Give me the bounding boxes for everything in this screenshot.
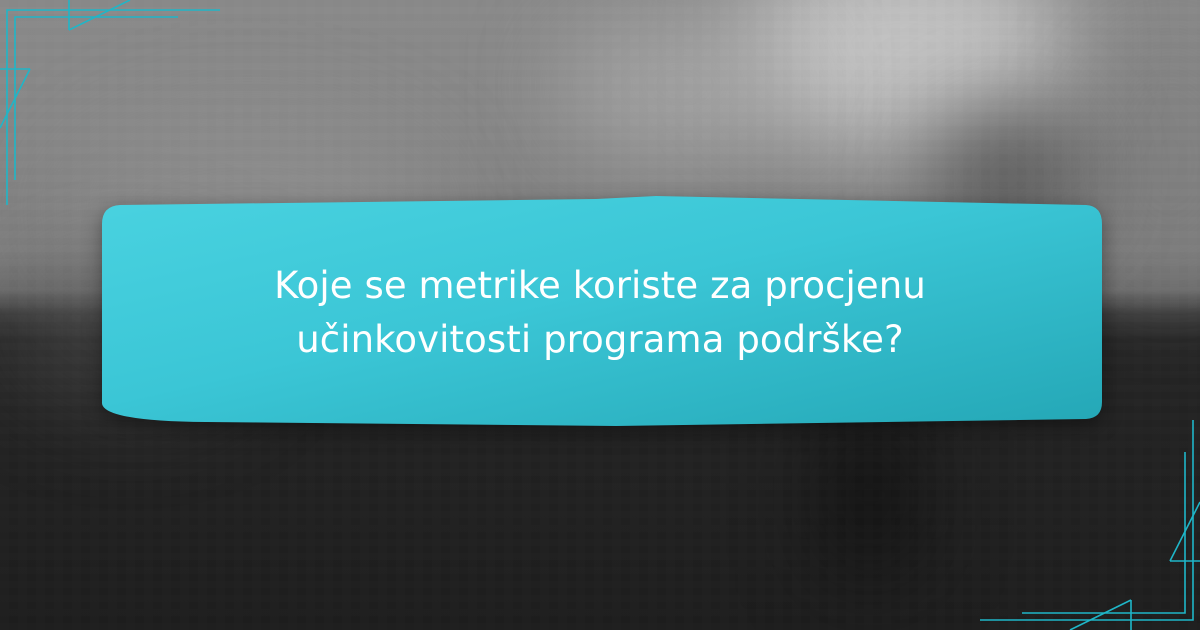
screenshot-canvas: Koje se metrike koriste za procjenu učin… [0, 0, 1200, 630]
question-line-1: Koje se metrike koriste za procjenu [274, 259, 926, 313]
question-text-block: Koje se metrike koriste za procjenu učin… [96, 190, 1104, 430]
question-card: Koje se metrike koriste za procjenu učin… [96, 190, 1104, 430]
question-line-2: učinkovitosti programa podrške? [296, 313, 904, 367]
